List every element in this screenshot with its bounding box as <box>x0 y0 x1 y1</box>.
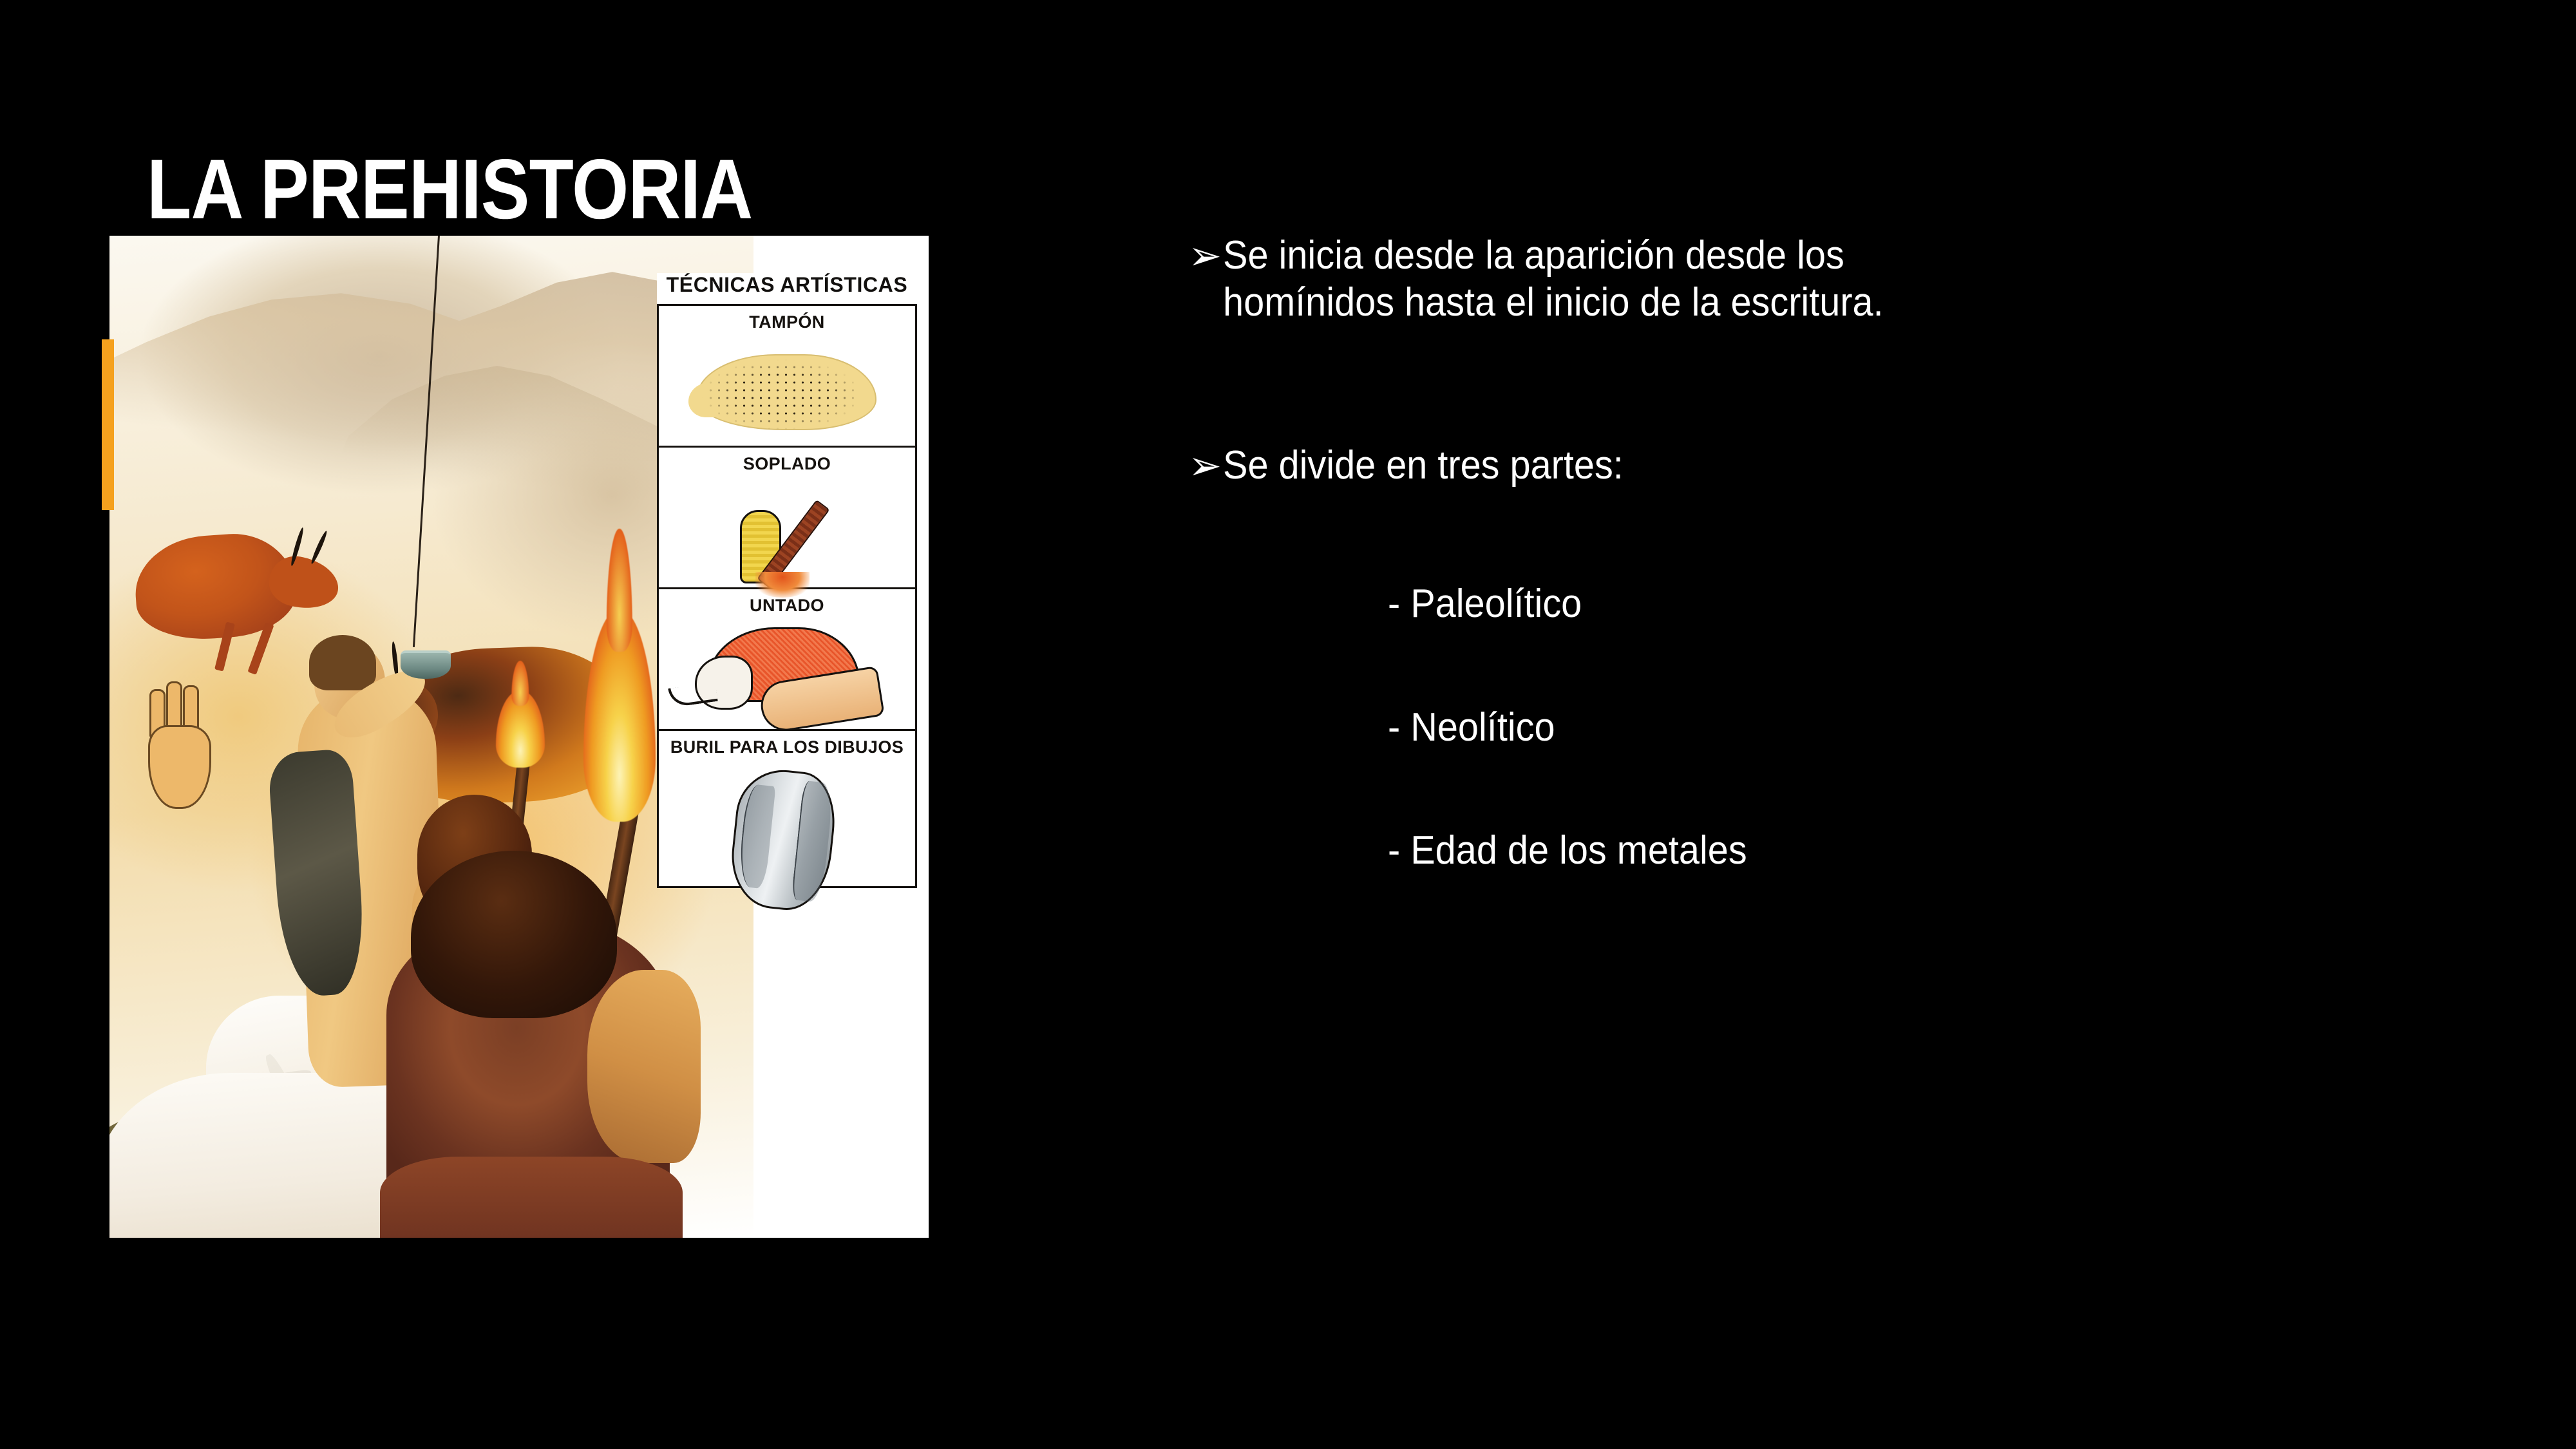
stippled-bison-icon <box>659 335 915 446</box>
bullet-item: ➢ Se inicia desde la aparición desde los… <box>1188 232 2476 326</box>
technique-label: TAMPÓN <box>659 312 915 332</box>
bullet-text: Se inicia desde la aparición desde los h… <box>1223 232 1884 326</box>
stipple-dot-pattern <box>690 348 889 438</box>
arrow-bullet-icon: ➢ <box>1188 442 1223 489</box>
cave-painting-illustration: TÉCNICAS ARTÍSTICAS TAMPÓN SOPLADO <box>109 236 929 1238</box>
technique-label: UNTADO <box>659 596 915 616</box>
figure-hide-wrap <box>380 1157 683 1238</box>
figure-hair <box>411 851 617 1018</box>
sub-item-paleolitico: - Paleolítico <box>1388 580 2400 627</box>
figure-shoulder <box>587 970 701 1163</box>
pigment-bowl-icon <box>401 650 451 679</box>
bullet-item: ➢ Se divide en tres partes: <box>1188 442 2476 489</box>
illustration-canvas: TÉCNICAS ARTÍSTICAS TAMPÓN SOPLADO <box>109 236 929 1238</box>
finger-smear-mammoth-icon <box>659 618 915 729</box>
sub-item-edad-de-los-metales: - Edad de los metales <box>1388 827 2400 874</box>
arrow-bullet-icon: ➢ <box>1188 232 1223 279</box>
flint-tool <box>726 766 840 914</box>
figure-hair <box>309 635 376 690</box>
techniques-heading: TÉCNICAS ARTÍSTICAS <box>657 273 917 304</box>
sub-item-neolitico: - Neolítico <box>1388 704 2400 751</box>
hand-stencil-icon <box>143 680 220 809</box>
technique-panel-buril: BURIL PARA LOS DIBUJOS <box>657 729 917 888</box>
hand-palm <box>148 725 211 809</box>
bullet-text: Se divide en tres partes: <box>1223 442 1624 489</box>
technique-label: SOPLADO <box>659 454 915 474</box>
sub-item-list: - Paleolítico - Neolítico - Edad de los … <box>1188 580 2476 873</box>
flint-facet <box>737 784 775 889</box>
flint-burin-icon <box>659 760 915 886</box>
technique-label: BURIL PARA LOS DIBUJOS <box>659 737 915 757</box>
blow-tube-icon <box>659 477 915 587</box>
orange-accent-bar <box>102 339 114 510</box>
pigment-spray <box>755 572 810 598</box>
technique-panel-tampon: TAMPÓN <box>657 304 917 446</box>
techniques-sidebar: TÉCNICAS ARTÍSTICAS TAMPÓN SOPLADO <box>657 273 917 888</box>
page-title: LA PREHISTORIA <box>147 147 752 232</box>
flint-facet <box>791 781 834 903</box>
technique-panel-untado: UNTADO <box>657 587 917 729</box>
technique-panel-soplado: SOPLADO <box>657 446 917 587</box>
presentation-slide: TÉCNICAS ARTÍSTICAS TAMPÓN SOPLADO <box>0 0 2576 1449</box>
slide-body-content: ➢ Se inicia desde la aparición desde los… <box>1188 232 2476 874</box>
